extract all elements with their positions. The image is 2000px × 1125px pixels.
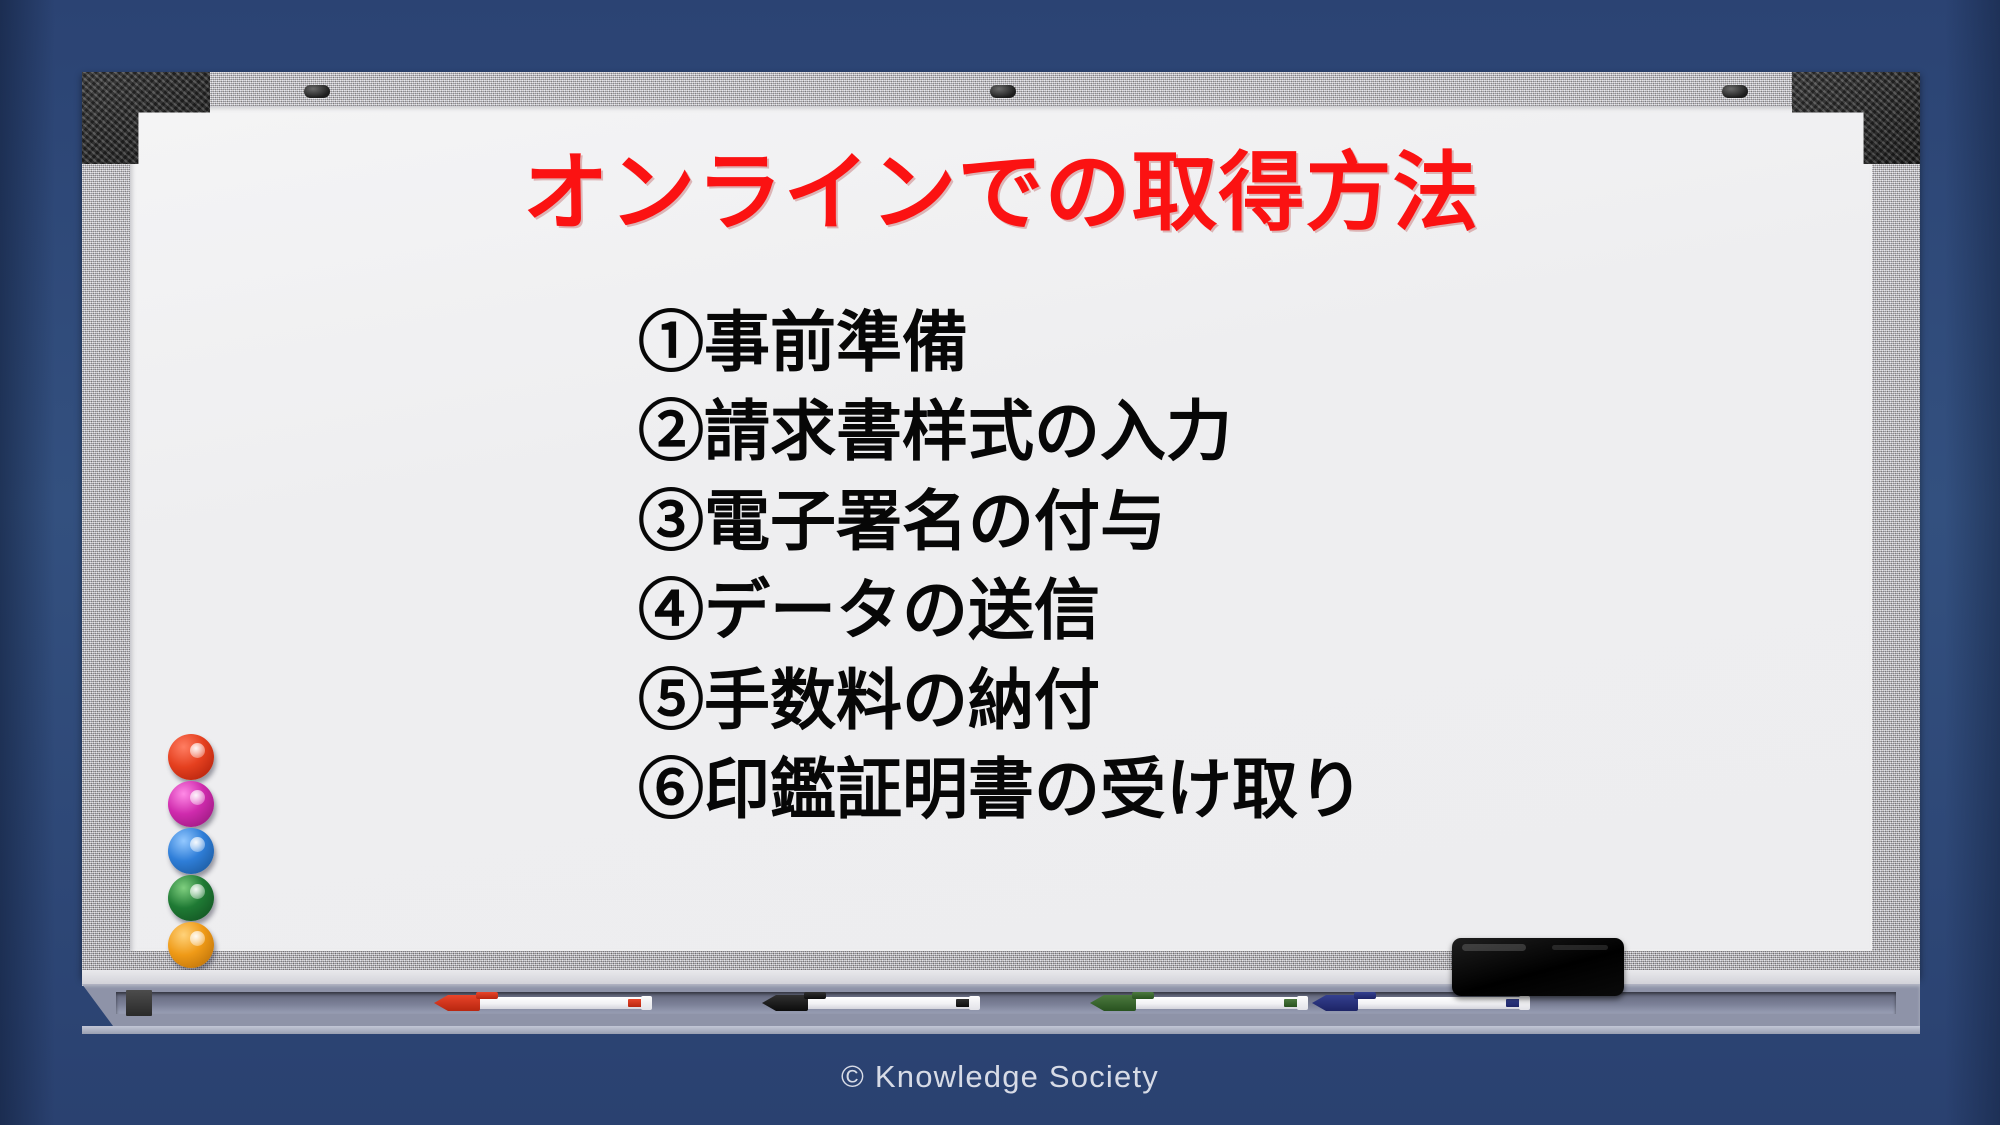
marker-blue[interactable] [1312, 995, 1530, 1011]
page-title: オンラインでの取得方法 [130, 148, 1872, 238]
marker-tray [82, 970, 1920, 1034]
marker-red[interactable] [434, 995, 652, 1011]
marker-cap [1312, 995, 1358, 1011]
list-item: ②請求書样式の入力 [638, 387, 1364, 476]
tray-groove [116, 992, 1896, 1014]
whiteboard: オンラインでの取得方法 ①事前準備 ②請求書样式の入力 ③電子署名の付与 ④デー… [82, 72, 1920, 1037]
marker-clip [804, 992, 826, 999]
board-content: オンラインでの取得方法 ①事前準備 ②請求書样式の入力 ③電子署名の付与 ④デー… [130, 106, 1872, 951]
tray-bottom-lip [82, 1026, 1920, 1034]
copyright-footer: © Knowledge Society [0, 1059, 2000, 1095]
marker-end [969, 996, 980, 1010]
marker-tail [1284, 999, 1298, 1007]
marker-barrel [1128, 997, 1300, 1009]
frame-bolt-icon [1722, 85, 1748, 98]
list-item: ⑤手数料の納付 [638, 656, 1364, 745]
tray-end-stop-icon [126, 990, 152, 1016]
slide-canvas: オンラインでの取得方法 ①事前準備 ②請求書样式の入力 ③電子署名の付与 ④デー… [0, 0, 2000, 1125]
marker-barrel [472, 997, 644, 1009]
list-item: ④データの送信 [638, 566, 1364, 655]
marker-tail [628, 999, 642, 1007]
marker-tail [1506, 999, 1520, 1007]
marker-green[interactable] [1090, 995, 1308, 1011]
marker-barrel [800, 997, 972, 1009]
whiteboard-frame: オンラインでの取得方法 ①事前準備 ②請求書样式の入力 ③電子署名の付与 ④デー… [82, 72, 1920, 977]
marker-black[interactable] [762, 995, 980, 1011]
tray-top-edge [82, 970, 1920, 986]
marker-cap [762, 995, 808, 1011]
marker-tail [956, 999, 970, 1007]
list-item: ③電子署名の付与 [638, 477, 1364, 566]
steps-list: ①事前準備 ②請求書样式の入力 ③電子署名の付与 ④データの送信 ⑤手数料の納付… [638, 298, 1364, 835]
marker-clip [1132, 992, 1154, 999]
marker-end [641, 996, 652, 1010]
list-item: ⑥印鑑証明書の受け取り [638, 745, 1364, 834]
marker-cap [1090, 995, 1136, 1011]
marker-clip [476, 992, 498, 999]
list-item: ①事前準備 [638, 298, 1364, 387]
whiteboard-eraser[interactable] [1452, 938, 1624, 996]
frame-bolt-icon [990, 85, 1016, 98]
marker-clip [1354, 992, 1376, 999]
frame-bolt-icon [304, 85, 330, 98]
marker-end [1297, 996, 1308, 1010]
marker-barrel [1350, 997, 1522, 1009]
marker-cap [434, 995, 480, 1011]
marker-end [1519, 996, 1530, 1010]
